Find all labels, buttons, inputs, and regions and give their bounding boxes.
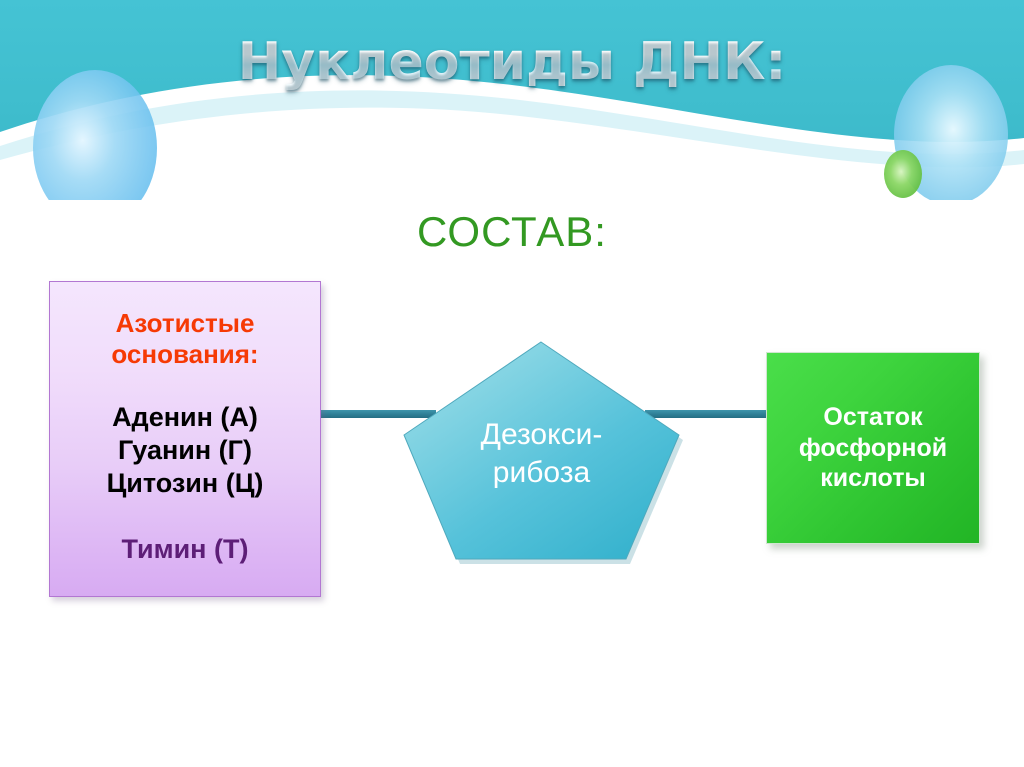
nitrogenous-bases-box: Азотистые основания: Аденин (А) Гуанин (… <box>49 281 321 597</box>
header-wave-graphic <box>0 0 1024 200</box>
bases-list: Аденин (А) Гуанин (Г) Цитозин (Ц) <box>50 401 320 500</box>
slide-root: Нуклеотиды ДНК: СОСТАВ: Азотистые основа… <box>0 0 1024 767</box>
list-item: Цитозин (Ц) <box>50 467 320 500</box>
phosphate-residue-box: Остаток фосфорной кислоты <box>766 352 980 544</box>
deoxyribose-pentagon: Дезокси- рибоза <box>399 337 684 564</box>
list-item: Гуанин (Г) <box>50 434 320 467</box>
bases-box-title: Азотистые основания: <box>50 308 320 369</box>
phosphate-label: Остаток фосфорной кислоты <box>789 402 957 494</box>
header-banner: Нуклеотиды ДНК: <box>0 0 1024 200</box>
list-item-thymine: Тимин (Т) <box>50 534 320 565</box>
phosphate-label-line-1: Остаток <box>799 402 947 433</box>
list-item: Аденин (А) <box>50 401 320 434</box>
page-title: Нуклеотиды ДНК: <box>0 32 1024 92</box>
pentagon-label-line-1: Дезокси- <box>399 416 684 454</box>
phosphate-label-line-3: кислоты <box>799 463 947 494</box>
pentagon-label-line-2: рибоза <box>399 454 684 492</box>
section-label-composition: СОСТАВ: <box>0 208 1024 256</box>
phosphate-label-line-2: фосфорной <box>799 433 947 464</box>
header-background <box>0 0 1024 200</box>
pentagon-label: Дезокси- рибоза <box>399 416 684 492</box>
